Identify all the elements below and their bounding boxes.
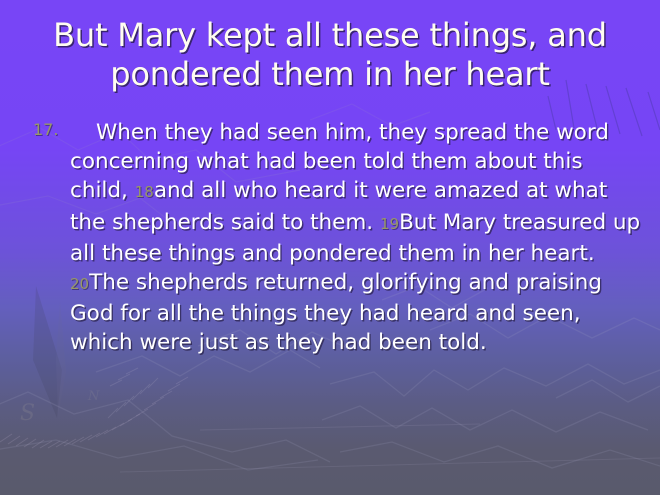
svg-text:N: N xyxy=(87,389,100,404)
verse-text-20: The shepherds returned, glorifying and p… xyxy=(70,270,602,355)
compass-letter-secondary: N xyxy=(87,389,100,404)
compass-tick-fan xyxy=(0,377,188,448)
slide-body: 17.When they had seen him, they spread t… xyxy=(33,118,641,358)
verse-paragraph: 17.When they had seen him, they spread t… xyxy=(33,118,641,358)
compass-tick-fan-secondary xyxy=(108,368,158,418)
verse-number-20: 20 xyxy=(70,275,89,293)
compass-letter-s: S xyxy=(20,401,35,426)
presentation-slide: S N xyxy=(0,0,660,495)
page-title: But Mary kept all these things, and pond… xyxy=(18,16,642,94)
svg-text:S: S xyxy=(20,401,35,426)
verse-number-18: 18 xyxy=(135,183,154,201)
contour-guide-line xyxy=(120,424,660,472)
verse-number-19: 19 xyxy=(380,215,399,233)
list-marker: 17. xyxy=(33,120,58,140)
slide-title: But Mary kept all these things, and pond… xyxy=(0,16,660,94)
